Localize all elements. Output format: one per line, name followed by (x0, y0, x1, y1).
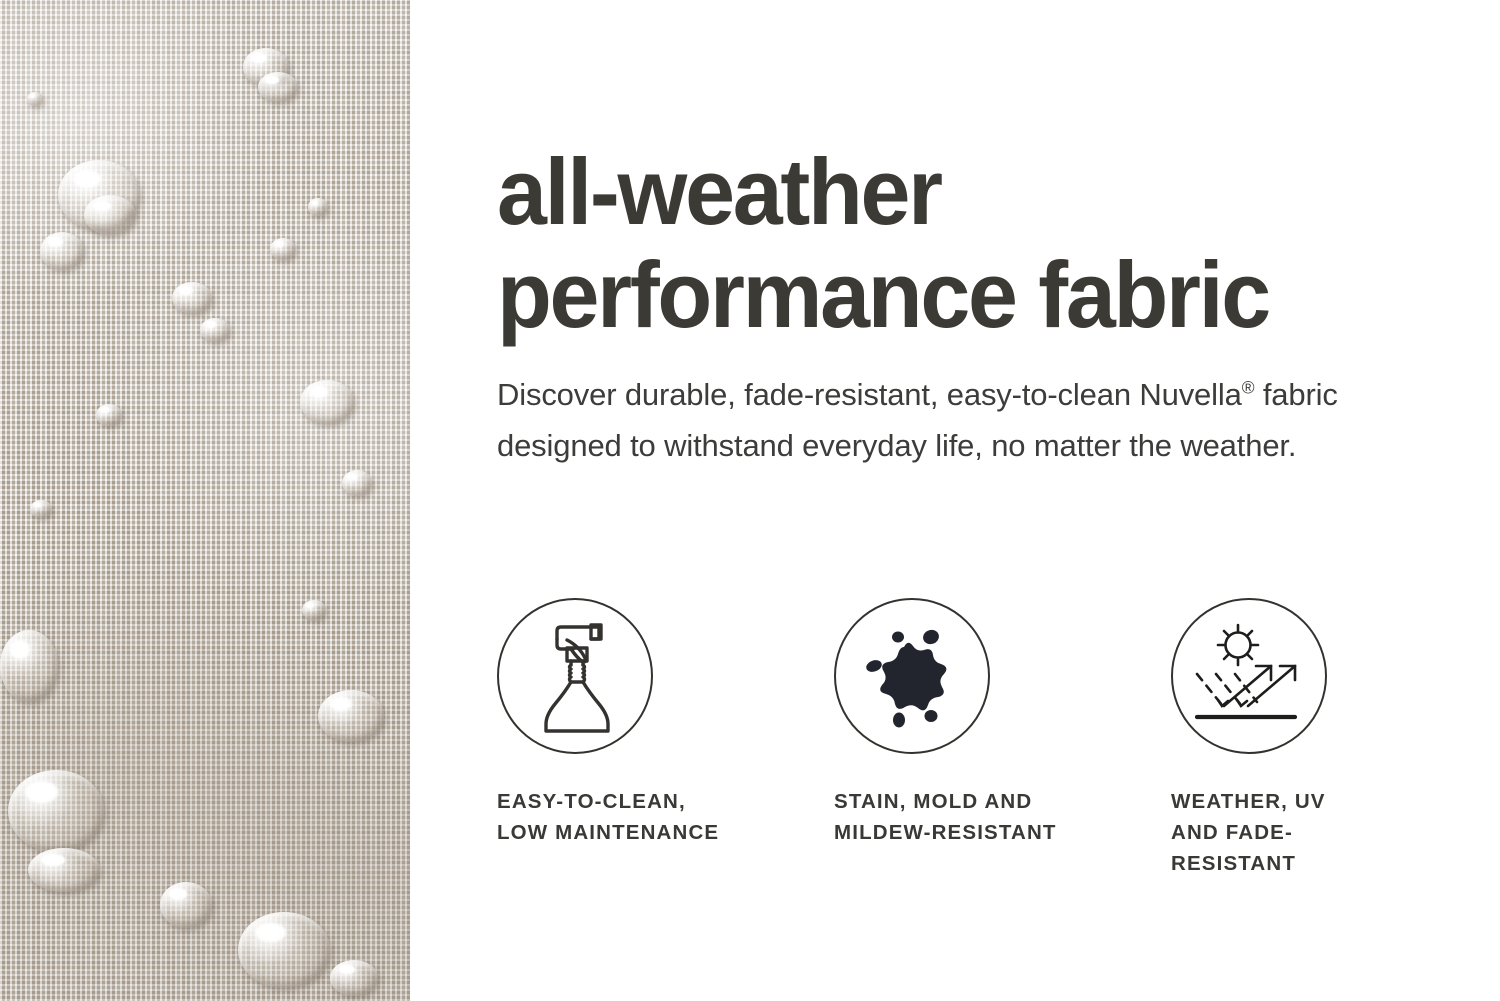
water-droplet (330, 960, 378, 996)
feature-caption: WEATHER, UV AND FADE-RESISTANT (1171, 754, 1416, 879)
water-droplet (308, 198, 328, 216)
water-droplet (172, 282, 212, 314)
feature-icon-badge (1171, 598, 1327, 754)
sun-uv-reflect-icon (1191, 622, 1307, 730)
water-droplet (318, 690, 384, 742)
feature-weather-uv-resistant: WEATHER, UV AND FADE-RESISTANT (1171, 598, 1416, 879)
water-droplet (302, 600, 326, 620)
water-droplet (40, 232, 84, 270)
water-droplet (84, 195, 136, 235)
fabric-photo-panel (0, 0, 410, 1001)
stain-splatter-icon (858, 622, 966, 730)
feature-icon-badge (497, 598, 653, 754)
water-droplet (28, 848, 100, 892)
water-droplet (160, 882, 212, 928)
water-droplet (200, 318, 230, 342)
water-droplet (300, 380, 354, 424)
water-droplet (96, 404, 122, 426)
feature-icon-badge (834, 598, 990, 754)
water-droplet (342, 470, 372, 496)
description-text: Discover durable, fade-resistant, easy-t… (497, 369, 1417, 471)
description-part-1: Discover durable, fade-resistant, easy-t… (497, 377, 1242, 412)
page-title: all-weather performance fabric (497, 140, 1414, 346)
feature-caption: STAIN, MOLD AND MILDEW-RESISTANT (834, 754, 1171, 848)
feature-easy-to-clean: EASY-TO-CLEAN, LOW MAINTENANCE (497, 598, 834, 879)
content-column: all-weather performance fabric Discover … (497, 0, 1457, 1001)
water-droplet (270, 238, 296, 260)
feature-stain-resistant: STAIN, MOLD AND MILDEW-RESISTANT (834, 598, 1171, 879)
water-droplet (8, 770, 104, 852)
spray-bottle-icon (527, 618, 623, 734)
water-droplet (258, 72, 298, 102)
registered-trademark-icon: ® (1242, 378, 1255, 398)
water-droplet (0, 630, 58, 702)
feature-list: EASY-TO-CLEAN, LOW MAINTENANCE (497, 598, 1457, 879)
feature-caption: EASY-TO-CLEAN, LOW MAINTENANCE (497, 754, 834, 848)
all-weather-fabric-banner: all-weather performance fabric Discover … (0, 0, 1500, 1001)
water-droplet (238, 912, 330, 988)
water-droplet (27, 92, 43, 106)
water-droplet (30, 500, 52, 518)
